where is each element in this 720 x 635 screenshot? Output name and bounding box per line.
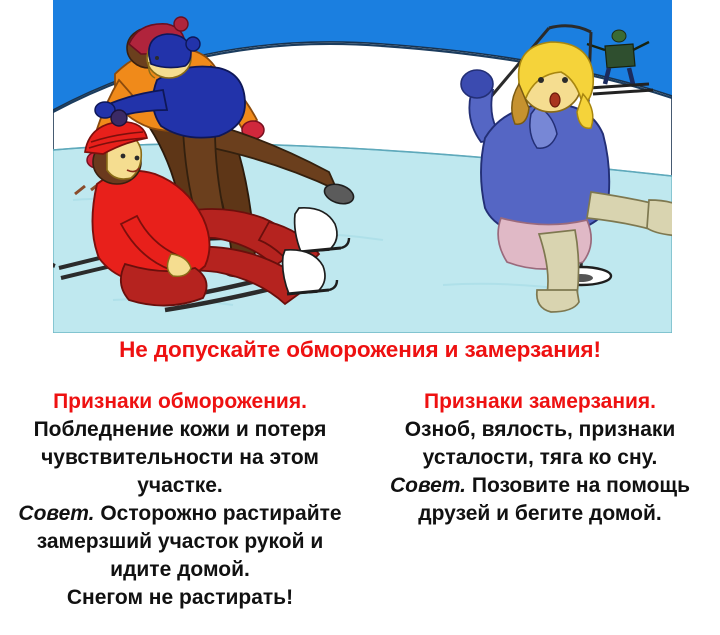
freezing-advice-text-1: Позовите на помощь bbox=[472, 474, 690, 497]
frostbite-subtitle: Признаки обморожения. bbox=[12, 388, 348, 416]
frostbite-symptom-line-1: Побледнение кожи и потеря bbox=[12, 416, 348, 444]
freezing-subtitle: Признаки замерзания. bbox=[374, 388, 706, 416]
frostbite-symptom-line-2: чувствительности на этом bbox=[12, 444, 348, 472]
mitten-left bbox=[461, 70, 493, 98]
frostbite-advice-text-1: Осторожно растирайте bbox=[100, 502, 341, 525]
frostbite-advice-line-1: Совет. Осторожно растирайте bbox=[12, 500, 348, 528]
freezing-advice-label: Совет. bbox=[390, 474, 466, 497]
frostbite-column: Признаки обморожения. Побледнение кожи и… bbox=[0, 388, 360, 612]
winter-safety-illustration bbox=[53, 0, 672, 333]
frostbite-advice-label: Совет. bbox=[18, 502, 94, 525]
poster-headline: Не допускайте обморожения и замерзания! bbox=[0, 336, 720, 364]
illustration-svg bbox=[53, 0, 672, 333]
frostbite-symptom-line-3: участке. bbox=[12, 472, 348, 500]
freezing-advice-line-2: друзей и бегите домой. bbox=[374, 500, 706, 528]
freezing-column: Признаки замерзания. Озноб, вялость, при… bbox=[360, 388, 720, 612]
freezing-symptom-line-1: Озноб, вялость, признаки bbox=[374, 416, 706, 444]
frostbite-advice-line-2: замерзший участок рукой и bbox=[12, 528, 348, 556]
frostbite-warning: Снегом не растирать! bbox=[12, 584, 348, 612]
freezing-symptom-line-2: усталости, тяга ко сну. bbox=[374, 444, 706, 472]
advice-columns: Признаки обморожения. Побледнение кожи и… bbox=[0, 388, 720, 612]
frostbite-advice-line-3: идите домой. bbox=[12, 556, 348, 584]
poster-root: Не допускайте обморожения и замерзания! … bbox=[0, 0, 720, 635]
freezing-advice-line-1: Совет. Позовите на помощь bbox=[374, 472, 706, 500]
